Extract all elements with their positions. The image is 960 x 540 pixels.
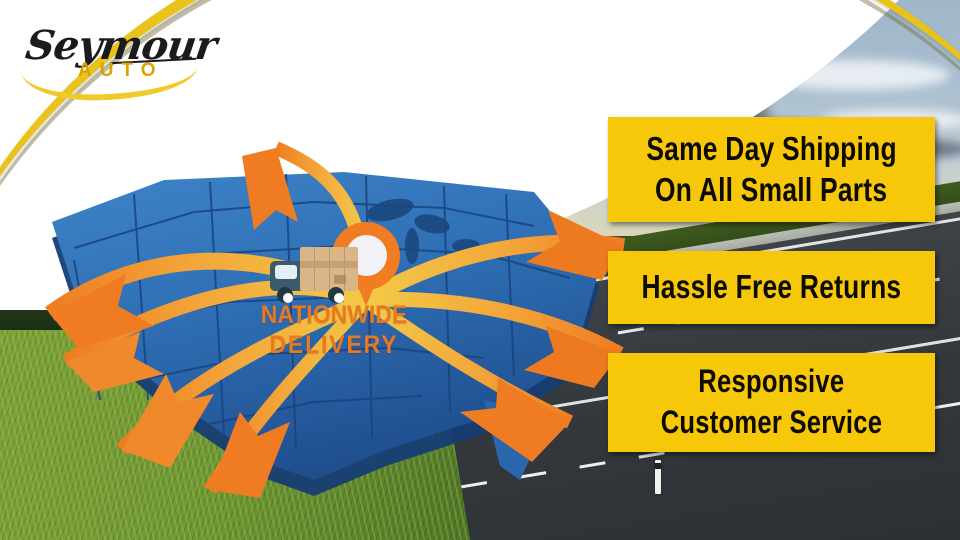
callout3-line2: Customer Service: [661, 406, 883, 440]
callout3-line1: Responsive: [698, 365, 844, 399]
callout1-line2: On All Small Parts: [655, 173, 887, 208]
callout2-line1: Hassle Free Returns: [642, 270, 902, 305]
callout1-line1: Same Day Shipping: [646, 132, 897, 167]
delivery-truck-icon: [270, 245, 362, 303]
nationwide-delivery-label: NATIONWIDE DELIVERY: [254, 303, 414, 358]
roadside-post: [655, 460, 661, 494]
promo-banner: Seymour AUTO: [0, 0, 960, 540]
nationwide-line-1: NATIONWIDE: [260, 303, 407, 328]
brand-subtitle: AUTO: [78, 60, 163, 82]
callout-responsive-customer-service[interactable]: Responsive Customer Service: [608, 353, 935, 452]
callout-hassle-free-returns[interactable]: Hassle Free Returns: [608, 251, 935, 324]
nationwide-line-2: DELIVERY: [260, 333, 407, 358]
callout-same-day-shipping[interactable]: Same Day Shipping On All Small Parts: [608, 117, 935, 222]
brand-logo[interactable]: Seymour AUTO: [14, 16, 204, 98]
